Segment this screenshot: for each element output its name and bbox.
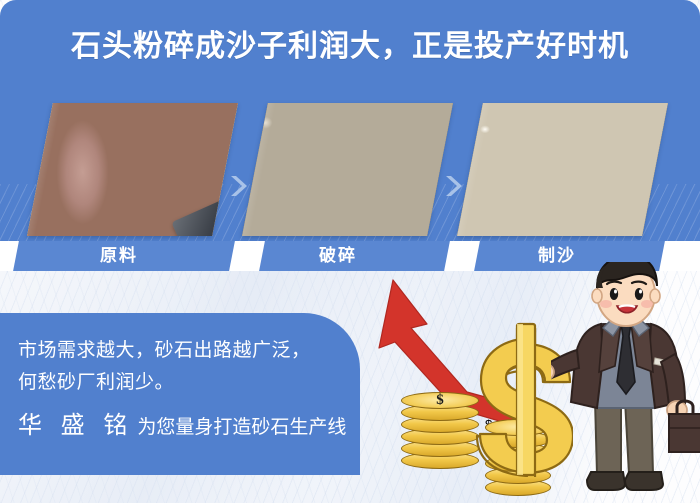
dark-stone-slab bbox=[172, 197, 238, 236]
river-pebbles-photo bbox=[27, 103, 238, 236]
message-line-2: 何愁砂厂利润少。 bbox=[18, 367, 348, 399]
brand-tagline: 华 盛 铭为您量身打造砂石生产线 bbox=[18, 409, 358, 445]
chevron-right-icon bbox=[225, 173, 251, 199]
message-panel: 市场需求越大，砂石出路越广泛， 何愁砂厂利润少。 华 盛 铭为您量身打造砂石生产… bbox=[0, 313, 360, 475]
tagline-text: 为您量身打造砂石生产线 bbox=[137, 417, 346, 438]
page-title: 石头粉碎成沙子利润大，正是投产好时机 bbox=[0, 25, 700, 69]
message-body: 市场需求越大，砂石出路越广泛， 何愁砂厂利润少。 bbox=[18, 335, 348, 399]
businessman-figure bbox=[551, 262, 700, 503]
brand-name: 华 盛 铭 bbox=[18, 412, 133, 439]
process-flow: 原料 破碎 制沙 bbox=[0, 95, 700, 270]
coin-dollar-symbol: $ bbox=[401, 392, 479, 409]
promotional-banner: 石头粉碎成沙子利润大，正是投产好时机 原料 破碎 bbox=[0, 0, 700, 503]
process-step-raw-material: 原料 bbox=[30, 95, 235, 270]
message-line-1: 市场需求越大，砂石出路越广泛， bbox=[18, 335, 348, 367]
crushed-gravel-photo bbox=[242, 103, 453, 236]
process-step-label: 原料 bbox=[8, 241, 230, 271]
label-bar-gap bbox=[229, 241, 265, 271]
illustration: $ $ bbox=[355, 262, 700, 503]
chevron-right-icon bbox=[440, 173, 466, 199]
coin-stack: $ bbox=[401, 390, 479, 478]
process-step-label-bar: 原料 bbox=[5, 241, 233, 271]
manufactured-sand-photo bbox=[457, 103, 668, 236]
process-step-sand-making: 制沙 bbox=[460, 95, 665, 270]
process-step-crushing: 破碎 bbox=[245, 95, 450, 270]
